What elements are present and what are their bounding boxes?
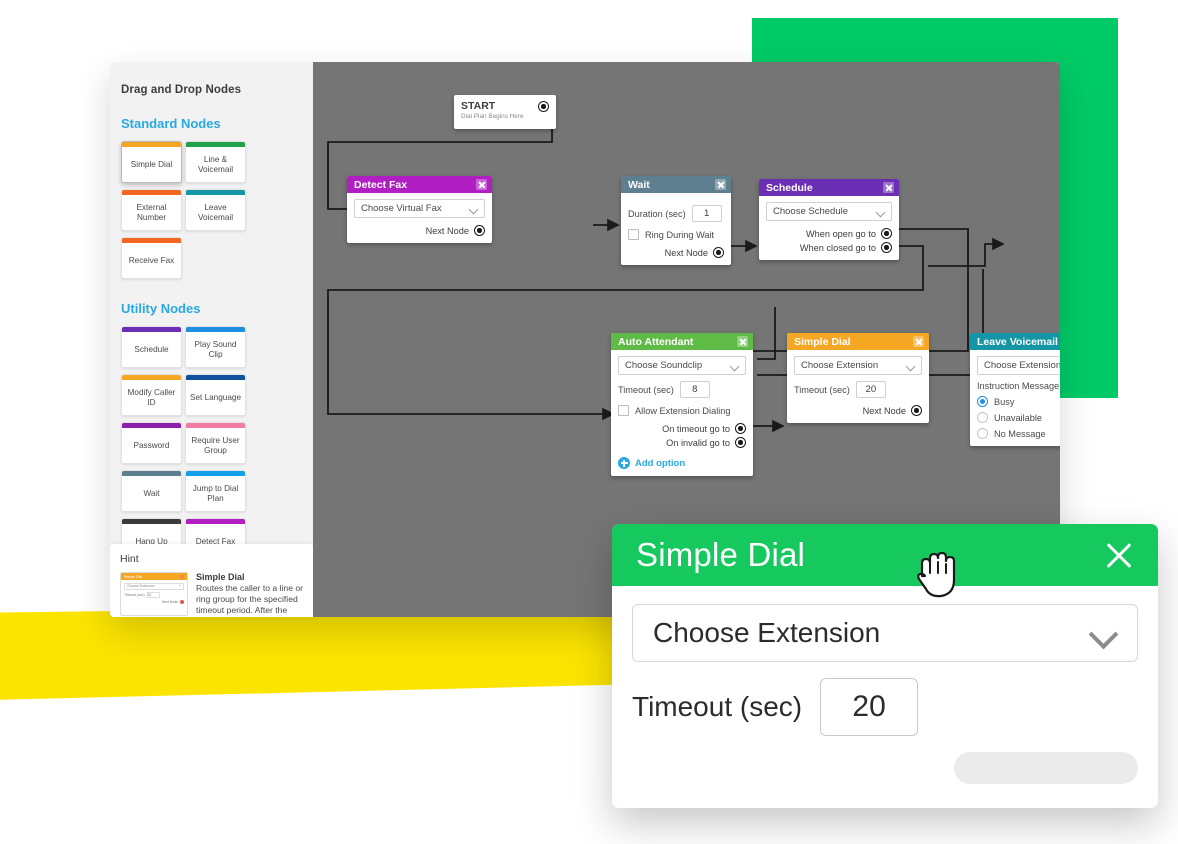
node-body: Choose Extension Timeout (sec) 20 Next N…: [787, 350, 929, 423]
port-label: When closed go to: [800, 243, 876, 253]
hint-thumb-timeout-value: 20: [147, 592, 160, 598]
chevron-down-icon: [907, 362, 915, 370]
node-body: Duration (sec) 1 Ring During Wait Next N…: [621, 193, 731, 265]
palette-tile-play-sound-clip[interactable]: Play Sound Clip: [185, 326, 246, 368]
close-icon: [180, 575, 184, 579]
duration-input[interactable]: 1: [692, 205, 722, 222]
start-text-block: START Dial Plan Begins Here: [461, 100, 524, 120]
add-option-label: Add option: [635, 458, 685, 469]
node-title: Detect Fax: [354, 179, 407, 191]
node-leave-voicemail[interactable]: Leave Voicemail Choose Extension Instruc…: [970, 333, 1060, 446]
timeout-label: Timeout (sec): [618, 385, 674, 395]
radio-label: Unavailable: [994, 413, 1042, 423]
node-start[interactable]: START Dial Plan Begins Here: [454, 95, 556, 129]
section-title-utility-nodes: Utility Nodes: [121, 301, 301, 316]
chevron-down-icon: [877, 208, 885, 216]
allow-extension-dialing-checkbox[interactable]: [618, 405, 629, 416]
port-label: On invalid go to: [666, 438, 730, 448]
palette-tile-line-voicemail[interactable]: Line & Voicemail: [185, 141, 246, 183]
chevron-down-icon: ˅: [179, 584, 181, 588]
node-header[interactable]: Detect Fax: [347, 176, 492, 193]
palette-tile-modify-caller-id[interactable]: Modify Caller ID: [121, 374, 182, 416]
extension-select[interactable]: Choose Extension: [794, 356, 922, 375]
next-node-port[interactable]: [474, 225, 485, 236]
plus-icon: [618, 457, 630, 469]
tile-label: Receive Fax: [122, 243, 181, 278]
radio-icon[interactable]: [977, 412, 988, 423]
node-title: Wait: [628, 179, 650, 191]
select-value: Choose Virtual Fax: [361, 203, 442, 214]
port-label: Next Node: [863, 406, 906, 416]
hint-thumb-timeout-row: Timeout (sec) 20: [124, 592, 184, 598]
next-node-port[interactable]: [911, 405, 922, 416]
palette-tile-leave-voicemail[interactable]: Leave Voicemail: [185, 189, 246, 231]
when-open-port[interactable]: [881, 228, 892, 239]
palette-tile-password[interactable]: Password: [121, 422, 182, 464]
radio-label: Busy: [994, 397, 1014, 407]
when-closed-port-row: When closed go to: [766, 242, 892, 253]
node-title: Auto Attendant: [618, 336, 693, 348]
tile-label: Play Sound Clip: [186, 332, 245, 367]
timeout-row: Timeout (sec) 8: [618, 381, 746, 398]
close-icon[interactable]: [715, 179, 726, 190]
radio-icon[interactable]: [977, 428, 988, 439]
node-body: Choose Extension Instruction Message Typ…: [970, 350, 1060, 446]
hint-body: Simple Dial Choose Extension ˅ Timeout (…: [120, 572, 303, 617]
soundclip-select[interactable]: Choose Soundclip: [618, 356, 746, 375]
duration-row: Duration (sec) 1: [628, 205, 724, 222]
chevron-down-icon: [470, 205, 478, 213]
palette-tile-require-user-group[interactable]: Require User Group: [185, 422, 246, 464]
modal-body: Choose Extension Timeout (sec) 20: [612, 586, 1158, 736]
checkbox-label: Ring During Wait: [645, 230, 714, 240]
tile-label: Modify Caller ID: [122, 380, 181, 415]
node-title: Schedule: [766, 182, 813, 194]
extension-select[interactable]: Choose Extension: [977, 356, 1060, 375]
on-timeout-port[interactable]: [735, 423, 746, 434]
port-label: Next Node: [426, 226, 469, 236]
when-open-port-row: When open go to: [766, 228, 892, 239]
page-root: Drag and Drop Nodes Standard Nodes Simpl…: [0, 0, 1178, 844]
hint-text-block: Simple Dial Routes the caller to a line …: [196, 572, 303, 617]
hint-thumb-select: Choose Extension ˅: [124, 583, 184, 590]
add-option-button[interactable]: Add option: [618, 457, 746, 469]
node-wait[interactable]: Wait Duration (sec) 1 Ring During Wait N…: [621, 176, 731, 265]
node-schedule[interactable]: Schedule Choose Schedule When open go to…: [759, 179, 899, 260]
next-node-port-row: Next Node: [794, 405, 922, 416]
radio-option-busy[interactable]: Busy: [977, 396, 1060, 407]
close-icon[interactable]: [476, 179, 487, 190]
node-auto-attendant[interactable]: Auto Attendant Choose Soundclip Timeout …: [611, 333, 753, 476]
close-icon[interactable]: [737, 336, 748, 347]
node-header[interactable]: Leave Voicemail: [970, 333, 1060, 350]
grab-hand-cursor-icon: [914, 546, 960, 600]
standard-nodes-grid: Simple Dial Line & Voicemail External Nu…: [121, 141, 301, 279]
palette-tile-simple-dial[interactable]: Simple Dial: [121, 141, 182, 183]
node-detect-fax[interactable]: Detect Fax Choose Virtual Fax Next Node: [347, 176, 492, 243]
radio-label: No Message: [994, 429, 1046, 439]
ring-during-wait-row: Ring During Wait: [628, 229, 724, 240]
palette-tile-receive-fax[interactable]: Receive Fax: [121, 237, 182, 279]
palette-tile-external-number[interactable]: External Number: [121, 189, 182, 231]
allow-extension-dialing-row: Allow Extension Dialing: [618, 405, 746, 416]
modal-header[interactable]: Simple Dial: [612, 524, 1158, 586]
close-icon[interactable]: [1102, 538, 1136, 572]
next-node-port[interactable]: [713, 247, 724, 258]
tile-label: Jump to Dial Plan: [186, 476, 245, 511]
palette-tile-set-language[interactable]: Set Language: [185, 374, 246, 416]
timeout-input[interactable]: 20: [856, 381, 886, 398]
tile-label: Require User Group: [186, 428, 245, 463]
hint-thumb-next-label: Next Node: [162, 600, 178, 604]
chevron-down-icon: [1091, 620, 1117, 646]
node-header[interactable]: Wait: [621, 176, 731, 193]
duration-label: Duration (sec): [628, 209, 686, 219]
palette-tile-jump-to-dial-plan[interactable]: Jump to Dial Plan: [185, 470, 246, 512]
hint-node-title: Simple Dial: [196, 572, 303, 582]
select-value: Choose Extension: [984, 360, 1060, 371]
select-value: Choose Soundclip: [625, 360, 702, 371]
tile-label: Simple Dial: [122, 147, 181, 182]
palette-tile-schedule[interactable]: Schedule: [121, 326, 182, 368]
next-node-port-row: Next Node: [628, 247, 724, 258]
node-header[interactable]: Simple Dial: [787, 333, 929, 350]
timeout-label: Timeout (sec): [794, 385, 850, 395]
modal-timeout-row: Timeout (sec) 20: [632, 678, 1138, 736]
tile-label: Leave Voicemail: [186, 195, 245, 230]
radio-icon[interactable]: [977, 396, 988, 407]
palette-tile-wait[interactable]: Wait: [121, 470, 182, 512]
hint-panel: Hint Simple Dial Choose Extension ˅ Time…: [110, 544, 313, 617]
node-body: Choose Virtual Fax Next Node: [347, 193, 492, 243]
timeout-input[interactable]: 8: [680, 381, 710, 398]
timeout-row: Timeout (sec) 20: [794, 381, 922, 398]
node-header[interactable]: Auto Attendant: [611, 333, 753, 350]
tile-label: Line & Voicemail: [186, 147, 245, 182]
virtual-fax-select[interactable]: Choose Virtual Fax: [354, 199, 485, 218]
hint-thumb-header: Simple Dial: [121, 573, 187, 580]
select-value: Choose Schedule: [773, 206, 848, 217]
modal-title: Simple Dial: [636, 536, 805, 574]
start-title: START: [461, 100, 524, 112]
on-invalid-port-row: On invalid go to: [618, 437, 746, 448]
node-body: Choose Schedule When open go to When clo…: [759, 196, 899, 260]
modal-timeout-input[interactable]: 20: [820, 678, 918, 736]
tile-label: Wait: [122, 476, 181, 511]
hint-node-thumbnail: Simple Dial Choose Extension ˅ Timeout (…: [120, 572, 188, 616]
checkbox-label: Allow Extension Dialing: [635, 406, 731, 416]
port-icon: [180, 600, 184, 604]
radio-option-unavailable[interactable]: Unavailable: [977, 412, 1060, 423]
next-node-port-row: Next Node: [354, 225, 485, 236]
when-closed-port[interactable]: [881, 242, 892, 253]
node-palette-sidebar: Drag and Drop Nodes Standard Nodes Simpl…: [110, 62, 313, 617]
tile-label: Schedule: [122, 332, 181, 367]
node-header[interactable]: Schedule: [759, 179, 899, 196]
node-title: Simple Dial: [794, 336, 851, 348]
chevron-down-icon: [731, 362, 739, 370]
tile-label: External Number: [122, 195, 181, 230]
start-subtitle: Dial Plan Begins Here: [461, 113, 524, 120]
close-icon[interactable]: [913, 336, 924, 347]
select-value: Choose Extension: [801, 360, 878, 371]
instruction-message-type-label: Instruction Message Type:: [977, 381, 1060, 391]
start-output-port[interactable]: [538, 101, 549, 112]
schedule-select[interactable]: Choose Schedule: [766, 202, 892, 221]
on-invalid-port[interactable]: [735, 437, 746, 448]
hint-thumb-timeout-label: Timeout (sec): [124, 593, 145, 597]
decorative-yellow-band: [0, 605, 615, 700]
port-label: When open go to: [806, 229, 876, 239]
hint-heading: Hint: [120, 553, 303, 565]
section-title-standard-nodes: Standard Nodes: [121, 116, 301, 131]
hint-thumb-title: Simple Dial: [124, 575, 142, 579]
modal-action-button[interactable]: [954, 752, 1138, 784]
hint-thumb-next-row: Next Node: [124, 600, 184, 604]
modal-footer: [612, 736, 1158, 784]
on-timeout-port-row: On timeout go to: [618, 423, 746, 434]
node-simple-dial[interactable]: Simple Dial Choose Extension Timeout (se…: [787, 333, 929, 423]
hint-description: Routes the caller to a line or ring grou…: [196, 583, 303, 617]
tile-label: Password: [122, 428, 181, 463]
port-label: On timeout go to: [662, 424, 730, 434]
tile-label: Set Language: [186, 380, 245, 415]
node-body: Choose Soundclip Timeout (sec) 8 Allow E…: [611, 350, 753, 476]
radio-option-no-message[interactable]: No Message: [977, 428, 1060, 439]
close-icon[interactable]: [883, 182, 894, 193]
select-value: Choose Extension: [653, 617, 880, 649]
node-title: Leave Voicemail: [977, 336, 1058, 348]
modal-timeout-label: Timeout (sec): [632, 691, 802, 723]
port-label: Next Node: [665, 248, 708, 258]
modal-extension-select[interactable]: Choose Extension: [632, 604, 1138, 662]
hint-thumb-select-label: Choose Extension: [127, 584, 155, 588]
palette-title: Drag and Drop Nodes: [121, 84, 301, 96]
simple-dial-modal: Simple Dial Choose Extension Timeout (se…: [612, 524, 1158, 808]
ring-during-wait-checkbox[interactable]: [628, 229, 639, 240]
